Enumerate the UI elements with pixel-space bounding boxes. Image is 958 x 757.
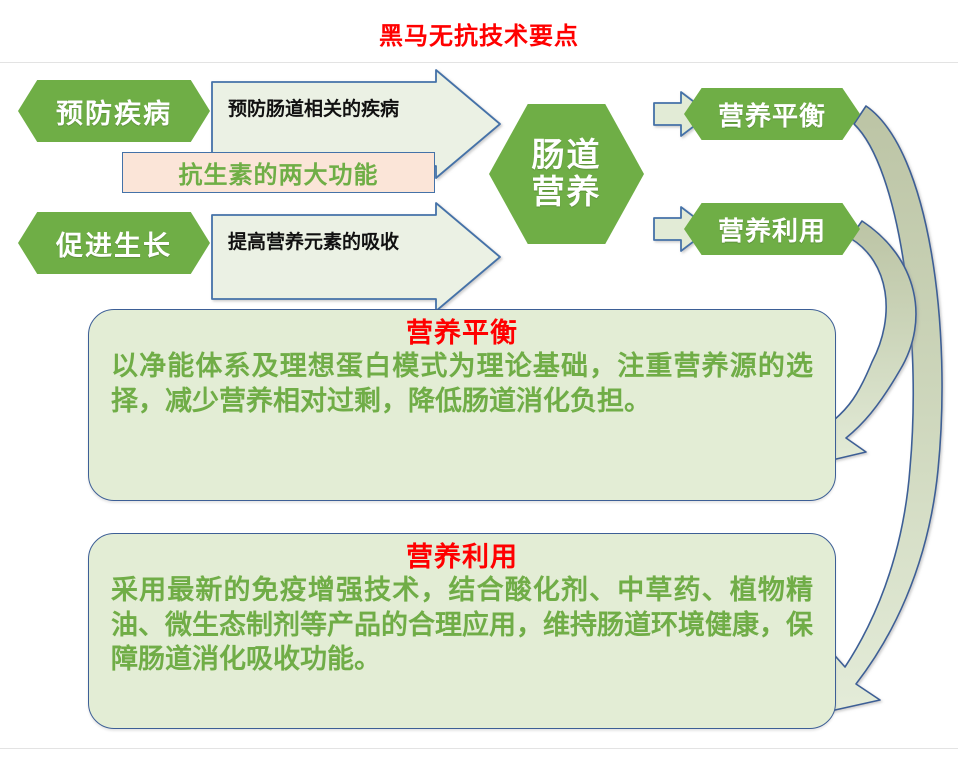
hexagon-nutrition-utilization[interactable]: 营养利用 bbox=[684, 203, 860, 255]
detail-card-nutrition-utilization: 营养利用 采用最新的免疫增强技术，结合酸化剂、中草药、植物精油、微生态制剂等产品… bbox=[88, 533, 836, 729]
arrow-label-prevent-disease: 预防肠道相关的疾病 bbox=[228, 94, 399, 121]
hexagon-prevent-disease[interactable]: 预防疾病 bbox=[18, 80, 210, 142]
detail-card-nutrition-balance: 营养平衡 以净能体系及理想蛋白模式为理论基础，注重营养源的选择，减少营养相对过剩… bbox=[88, 309, 836, 501]
hexagon-nutrition-utilization-label: 营养利用 bbox=[718, 211, 826, 248]
hexagon-nutrition-balance-label: 营养平衡 bbox=[718, 96, 826, 133]
antibiotic-functions-label: 抗生素的两大功能 bbox=[179, 155, 379, 190]
detail-card-nutrition-balance-body: 以净能体系及理想蛋白模式为理论基础，注重营养源的选择，减少营养相对过剩，降低肠道… bbox=[111, 349, 813, 418]
hexagon-promote-growth[interactable]: 促进生长 bbox=[18, 212, 210, 274]
arrow-label-improve-absorption: 提高营养元素的吸收 bbox=[228, 227, 399, 254]
detail-card-nutrition-utilization-title: 营养利用 bbox=[111, 542, 813, 572]
hexagon-center-line2: 营养 bbox=[532, 174, 602, 211]
hexagon-prevent-disease-label: 预防疾病 bbox=[56, 92, 172, 131]
antibiotic-functions-box: 抗生素的两大功能 bbox=[122, 152, 435, 193]
hexagon-promote-growth-label: 促进生长 bbox=[56, 224, 172, 263]
detail-card-nutrition-balance-title: 营养平衡 bbox=[111, 318, 813, 348]
detail-card-nutrition-utilization-body: 采用最新的免疫增强技术，结合酸化剂、中草药、植物精油、微生态制剂等产品的合理应用… bbox=[111, 573, 813, 677]
hexagon-nutrition-balance[interactable]: 营养平衡 bbox=[684, 88, 860, 140]
arrow-improve-absorption bbox=[212, 203, 500, 311]
slide-canvas: 黑马无抗技术要点 预防疾病 促进生长 bbox=[0, 0, 958, 757]
hexagon-center-line1: 肠道 bbox=[532, 137, 602, 174]
